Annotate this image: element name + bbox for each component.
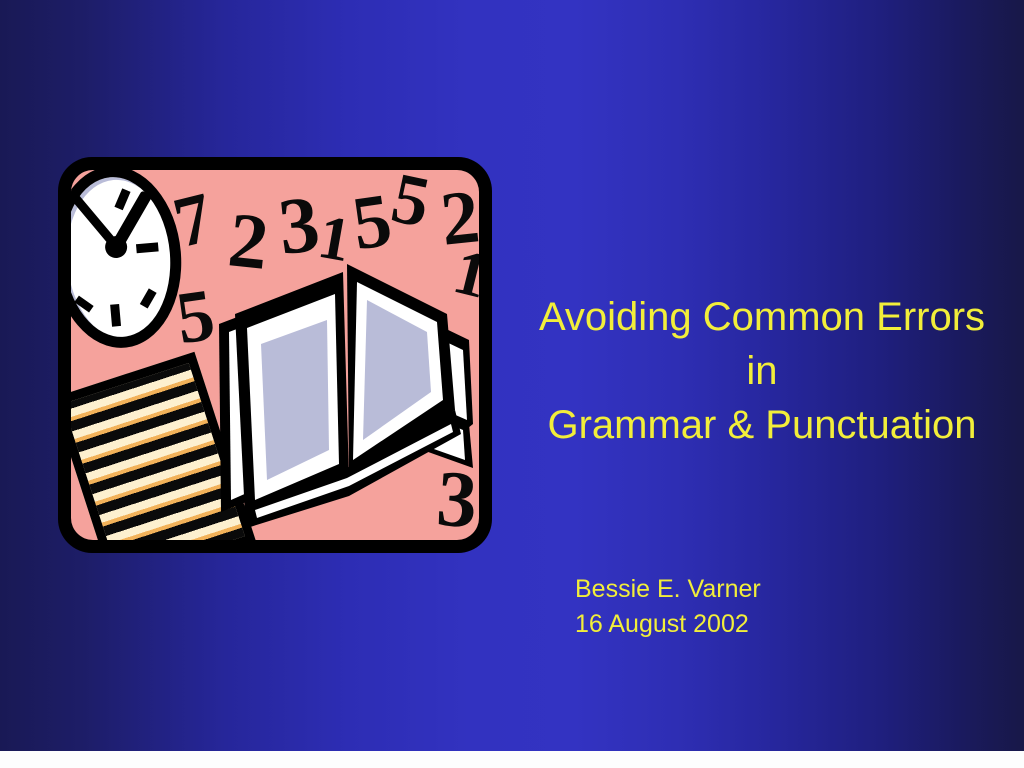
clock-tick-6	[111, 304, 122, 327]
slide-title: Avoiding Common Errors in Grammar & Punc…	[500, 290, 1024, 452]
slide-subtitle: Bessie E. Varner 16 August 2002	[575, 572, 761, 642]
clock-tick-7	[75, 296, 94, 313]
author-name: Bessie E. Varner	[575, 572, 761, 607]
clock-center-cap	[104, 236, 128, 260]
clock-tick-5	[140, 288, 157, 308]
title-line-2: in	[500, 344, 1024, 398]
title-line-1: Avoiding Common Errors	[500, 290, 1024, 344]
presentation-date: 16 August 2002	[575, 607, 761, 642]
clock-tick-3	[136, 242, 159, 253]
title-line-3: Grammar & Punctuation	[500, 398, 1024, 452]
clipart-image-frame: 72315521513	[58, 157, 492, 553]
open-book-icon	[211, 228, 479, 528]
presentation-slide: 72315521513	[0, 0, 1024, 751]
clipart-canvas: 72315521513	[71, 170, 479, 540]
slide-bottom-strip	[0, 751, 1024, 768]
clock-tick-12	[115, 188, 131, 210]
